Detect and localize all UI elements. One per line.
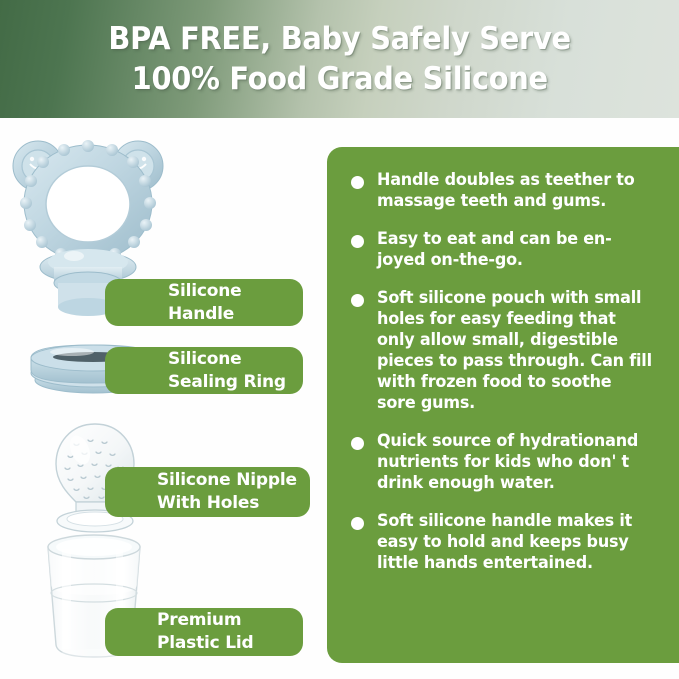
label-handle-line-1: Silicone (168, 280, 303, 303)
label-handle-line-2: Handle (168, 303, 303, 326)
feature-item: Quick source of hydrationand nutrients f… (351, 430, 663, 493)
label-lid-line-1: Premium (157, 609, 303, 632)
label-ring-line-1: Silicone (168, 348, 303, 371)
feature-text: Soft silicone handle makes it easy to ho… (377, 510, 654, 573)
label-pill-silicone-sealing-ring: Silicone Sealing Ring (105, 347, 303, 394)
feature-item: Soft silicone handle makes it easy to ho… (351, 510, 663, 573)
label-nipple-line-2: With Holes (157, 492, 310, 515)
bullet-icon (351, 517, 364, 530)
feature-text: Soft silicone pouch with small holes for… (377, 287, 654, 413)
bullet-icon (351, 176, 364, 189)
feature-text: Handle doubles as teether to massage tee… (377, 169, 654, 211)
label-lid-line-2: Plastic Lid (157, 632, 303, 655)
feature-item: Easy to eat and can be en-joyed on-the-g… (351, 228, 663, 270)
feature-text: Quick source of hydrationand nutrients f… (377, 430, 654, 493)
label-pill-silicone-nipple: Silicone Nipple With Holes (105, 467, 310, 517)
feature-item: Handle doubles as teether to massage tee… (351, 169, 663, 211)
bullet-icon (351, 235, 364, 248)
label-ring-line-2: Sealing Ring (168, 371, 303, 394)
bullet-icon (351, 437, 364, 450)
header-title-line-1: BPA FREE, Baby Safely Serve (108, 19, 570, 59)
header-title-line-2: 100% Food Grade Silicone (131, 59, 547, 99)
label-pill-premium-plastic-lid: Premium Plastic Lid (105, 608, 303, 656)
label-nipple-line-1: Silicone Nipple (157, 469, 310, 492)
feature-item: Soft silicone pouch with small holes for… (351, 287, 663, 413)
header-banner: BPA FREE, Baby Safely Serve 100% Food Gr… (0, 0, 679, 118)
features-panel: Handle doubles as teether to massage tee… (327, 147, 679, 663)
feature-text: Easy to eat and can be en-joyed on-the-g… (377, 228, 654, 270)
infographic-page: BPA FREE, Baby Safely Serve 100% Food Gr… (0, 0, 679, 679)
label-pill-silicone-handle: Silicone Handle (105, 279, 303, 326)
bullet-icon (351, 294, 364, 307)
